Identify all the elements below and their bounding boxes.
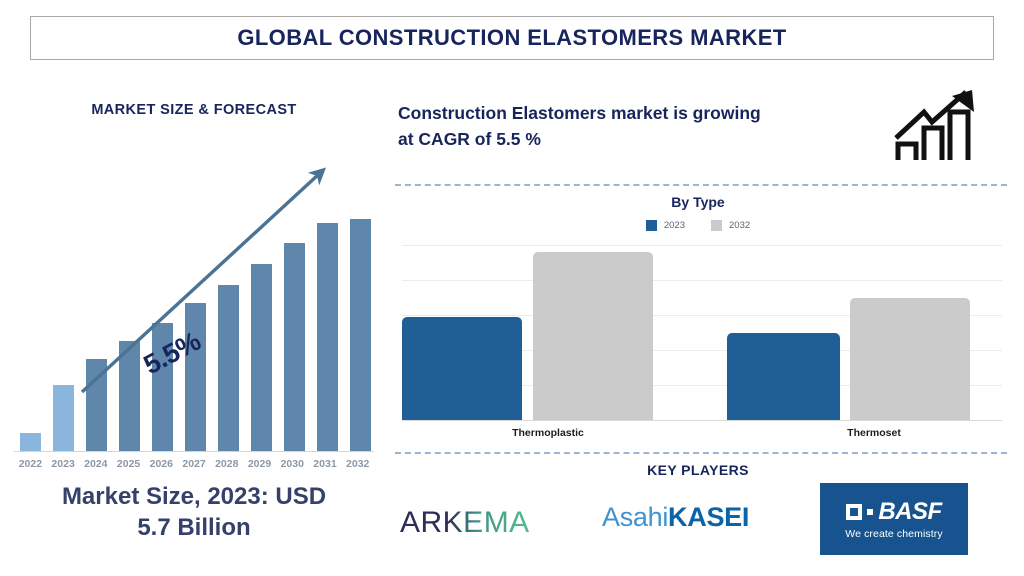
bar-2032 (350, 219, 371, 451)
market-size-forecast-chart: 5.5% (14, 152, 374, 452)
legend-swatch-2032 (711, 220, 722, 231)
year-label: 2031 (309, 458, 342, 470)
logo-arkema: ARKEMA (400, 502, 570, 542)
year-axis-labels: 2022 2023 2024 2025 2026 2027 2028 2029 … (14, 458, 374, 470)
legend-item-2023: 2023 (646, 220, 685, 231)
group-label-thermoplastic: Thermoplastic (448, 427, 648, 439)
cagr-statement-line1: Construction Elastomers market is growin… (398, 103, 761, 123)
key-players-title: KEY PLAYERS (392, 462, 1004, 478)
bar-thermoplastic-2032 (533, 252, 653, 420)
section-divider-bottom (395, 452, 1007, 454)
market-size-value-line1: Market Size, 2023: USD (8, 482, 380, 513)
bar-2025 (119, 341, 140, 451)
year-label: 2026 (145, 458, 178, 470)
logo-basf-tagline: We create chemistry (845, 528, 942, 540)
bar-2023 (53, 385, 74, 451)
chart-baseline (14, 451, 374, 452)
bar-thermoplastic-2023 (402, 317, 522, 420)
year-label: 2028 (210, 458, 243, 470)
bar-thermoset-2023 (727, 333, 840, 420)
market-size-forecast-panel: MARKET SIZE & FORECAST 5. (0, 80, 388, 576)
cagr-statement: Construction Elastomers market is growin… (398, 100, 898, 153)
bar-2031 (317, 223, 338, 451)
section-divider-top (395, 184, 1007, 186)
bar-2030 (284, 243, 305, 451)
by-type-legend: 2023 2032 (392, 220, 1004, 231)
legend-label-2023: 2023 (664, 220, 685, 231)
svg-text:ARKEMA: ARKEMA (400, 506, 530, 539)
key-players-logos: ARKEMA AsahiKASEI BASF We create chemist… (392, 480, 1012, 572)
logo-asahi-kasei-light: Asahi (602, 502, 668, 532)
group-label-thermoset: Thermoset (774, 427, 974, 439)
by-type-chart (402, 243, 1002, 421)
page-title-bar: GLOBAL CONSTRUCTION ELASTOMERS MARKET (30, 16, 994, 60)
by-type-title: By Type (392, 194, 1004, 210)
logo-asahi-kasei: AsahiKASEI (602, 502, 802, 542)
growth-chart-arrow-icon (890, 88, 990, 168)
cagr-statement-value: 5.5 % (496, 129, 541, 149)
logo-asahi-kasei-bold: KASEI (668, 502, 749, 532)
page-title: GLOBAL CONSTRUCTION ELASTOMERS MARKET (237, 25, 786, 51)
year-label: 2029 (243, 458, 276, 470)
logo-basf: BASF We create chemistry (820, 483, 968, 555)
market-size-forecast-heading: MARKET SIZE & FORECAST (0, 102, 388, 118)
market-size-value-line2: 5.7 Billion (8, 513, 380, 544)
year-label: 2032 (341, 458, 374, 470)
year-label: 2024 (79, 458, 112, 470)
bar-2027 (185, 303, 206, 451)
bar-2024 (86, 359, 107, 451)
basf-mark-row: BASF (846, 498, 941, 526)
legend-swatch-2023 (646, 220, 657, 231)
year-label: 2022 (14, 458, 47, 470)
right-panel: Construction Elastomers market is growin… (392, 80, 1024, 576)
logo-basf-wordmark: BASF (878, 498, 941, 526)
cagr-statement-line2: at CAGR of (398, 129, 491, 149)
year-label: 2023 (47, 458, 80, 470)
infographic-page: GLOBAL CONSTRUCTION ELASTOMERS MARKET MA… (0, 0, 1024, 576)
year-label: 2030 (276, 458, 309, 470)
year-label: 2025 (112, 458, 145, 470)
legend-label-2032: 2032 (729, 220, 750, 231)
chart-baseline (402, 420, 1002, 421)
bar-2022 (20, 433, 41, 451)
bar-thermoset-2032 (850, 298, 970, 420)
market-size-value: Market Size, 2023: USD 5.7 Billion (8, 482, 380, 543)
basf-dot-icon (867, 509, 873, 515)
legend-item-2032: 2032 (711, 220, 750, 231)
year-label: 2027 (178, 458, 211, 470)
bar-2029 (251, 264, 272, 451)
basf-square-icon (846, 504, 862, 520)
gridline (402, 245, 1002, 246)
bar-2028 (218, 285, 239, 451)
gridline (402, 280, 1002, 281)
